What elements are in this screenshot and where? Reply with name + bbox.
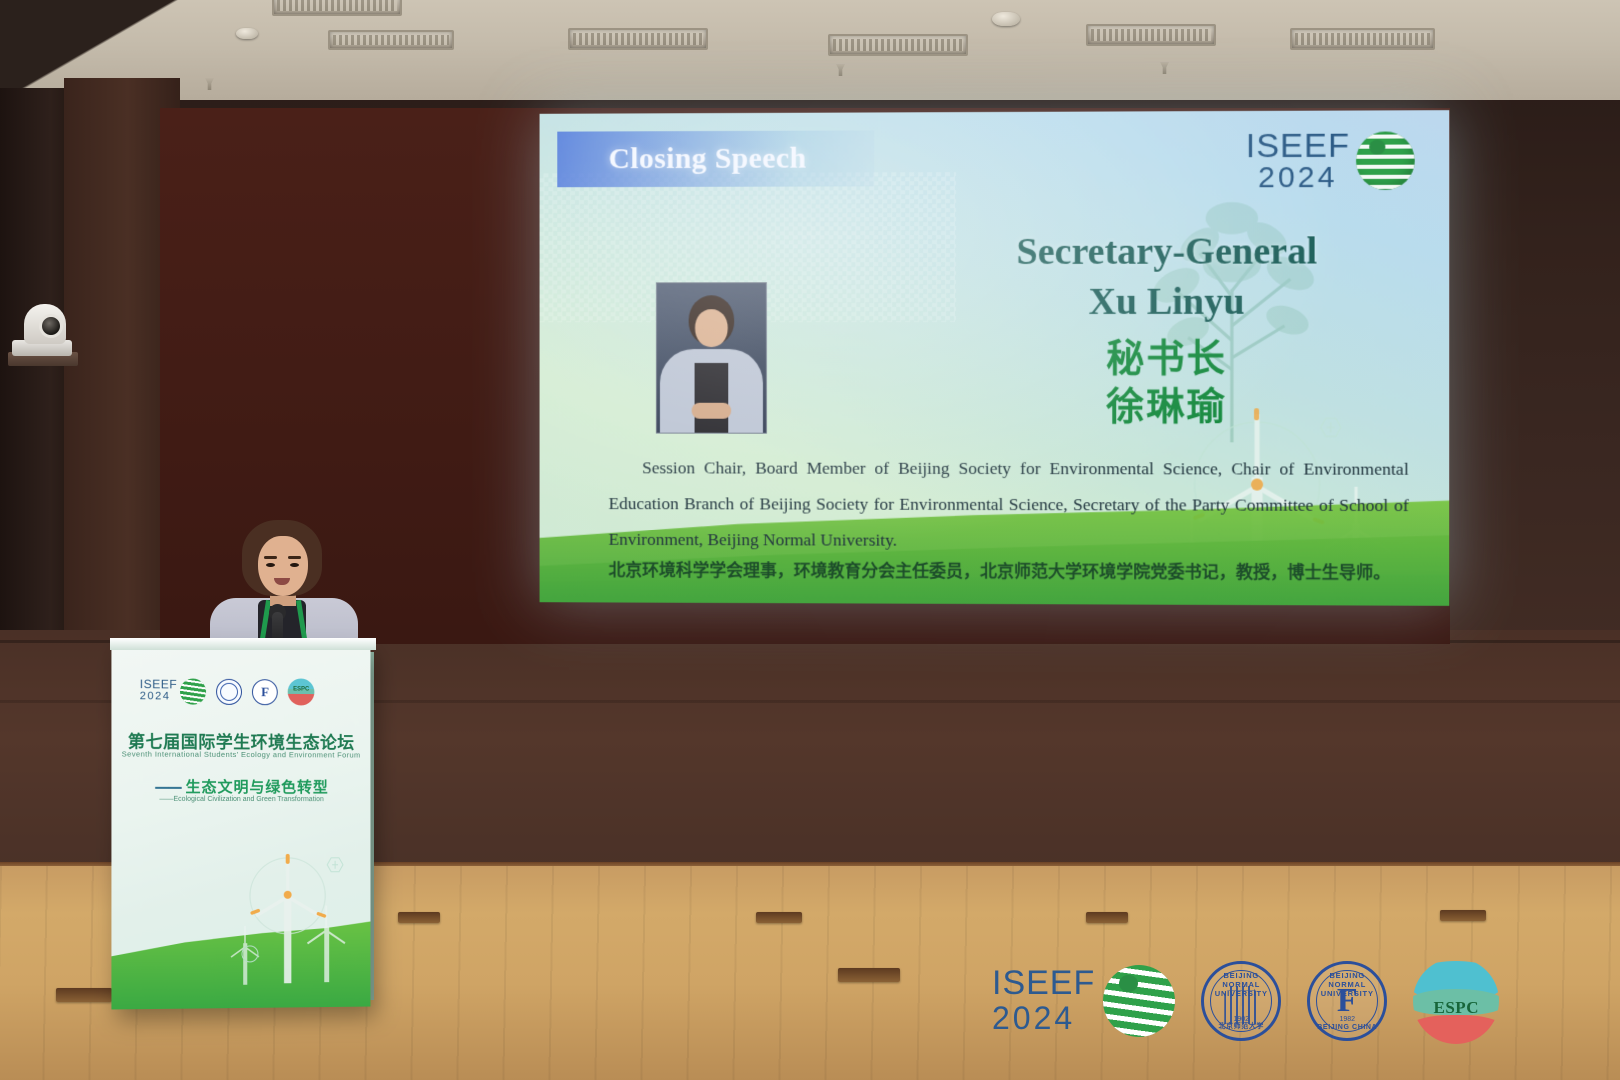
podium-title-en: Seventh International Students' Ecology … (111, 749, 370, 759)
air-vent-icon (828, 34, 968, 56)
slide-heading-role-cn: 秘书长 (916, 327, 1419, 382)
slide-bio-en: Session Chair, Board Member of Beijing S… (609, 449, 1409, 559)
bnu-seal-bottom-text: 北京师范大学 (1204, 1021, 1278, 1031)
slide-bio-cn-text: 北京环境科学学会理事，环境教育分会主任委员，北京师范大学环境学院党委书记，教授，… (609, 561, 1391, 584)
watermark-logo-row: ISEEF 2024 BEIJING NORMAL UNIVERSITY 190… (992, 958, 1499, 1044)
podium-logo-row: ISEEF 2024 F (140, 677, 315, 705)
podium-subtitle-cn: ——生态文明与绿色转型 (111, 776, 370, 798)
slide-title-banner: Closing Speech (557, 130, 874, 187)
iseef-globe-icon (1103, 965, 1175, 1037)
bnu-f-emblem-icon: BEIJING NORMAL UNIVERSITY F 1982 BEIJING… (1307, 961, 1387, 1041)
bnu-seal-icon: BEIJING NORMAL UNIVERSITY 1902 北京师范大学 (1201, 961, 1281, 1041)
espc-label: ESPC (1413, 998, 1499, 1018)
slide-logo-year: 2024 (1246, 163, 1350, 193)
podium-subtitle-en: ——Ecological Civilization and Green Tran… (111, 796, 370, 803)
slide-bio-en-text: Session Chair, Board Member of Beijing S… (609, 457, 1409, 549)
espc-logo-icon: ESPC (1413, 958, 1499, 1044)
espc-logo-icon (288, 678, 315, 705)
floor-outlet-plate (398, 912, 440, 923)
bnu-seal-icon (216, 678, 242, 704)
slide-heading-name-en: Xu Linyu (916, 279, 1419, 324)
bnu-f-bottom-text: BEIJING CHINA (1310, 1024, 1384, 1031)
podium-logo-name: ISEEF (140, 678, 177, 690)
podium-subtitle-dash: —— (154, 778, 180, 796)
stage-scene-photo: Closing Speech ISEEF 2024 Secretary-Gene… (0, 0, 1620, 1080)
air-vent-icon (272, 0, 402, 16)
floor-outlet-plate (1440, 910, 1486, 921)
speaker-face (258, 536, 308, 596)
watermark-iseef-name: ISEEF (992, 966, 1095, 1000)
floor-outlet-plate (838, 968, 900, 982)
podium-wind-turbine-graphic (230, 836, 359, 986)
floor-outlet-plate (756, 912, 802, 923)
camera-lens-icon (39, 314, 63, 338)
air-vent-icon (1290, 28, 1435, 50)
smoke-detector-icon (236, 28, 258, 39)
floor-outlet-plate (1086, 912, 1128, 923)
air-vent-icon (568, 28, 708, 50)
podium-logo-year: 2024 (140, 690, 177, 704)
slide-heading-name-cn: 徐琳瑜 (916, 375, 1419, 431)
speaker-portrait-photo (656, 282, 767, 433)
slide-heading-role-en: Secretary-General (916, 229, 1419, 274)
wall-left-panel (0, 88, 72, 688)
air-vent-icon (1086, 24, 1216, 46)
slide-logo-name: ISEEF (1246, 129, 1350, 164)
floor-outlet-plate (56, 988, 112, 1002)
bnu-f-emblem-icon: F (252, 679, 278, 705)
podium-top-surface (110, 638, 376, 650)
bnu-f-year: 1982 (1310, 1016, 1384, 1023)
projected-slide: Closing Speech ISEEF 2024 Secretary-Gene… (540, 110, 1450, 606)
air-vent-icon (328, 30, 454, 50)
iseef-globe-icon (180, 678, 206, 704)
podium-front-panel: ISEEF 2024 F 第七届国际学生环境生态论坛 Seventh Inter… (111, 643, 370, 1010)
watermark-iseef-logo: ISEEF 2024 (992, 965, 1175, 1037)
podium-subtitle-cn-text: 生态文明与绿色转型 (186, 778, 329, 796)
slide-iseef-logo: ISEEF 2024 (1246, 128, 1415, 193)
bnu-f-letter: F (1310, 982, 1384, 1020)
podium-iseef-logo: ISEEF 2024 (140, 678, 207, 705)
slide-bio-cn: 北京环境科学学会理事，环境教育分会主任委员，北京师范大学环境学院党委书记，教授，… (609, 554, 1429, 591)
smoke-detector-icon (992, 12, 1020, 26)
watermark-iseef-year: 2024 (992, 1000, 1095, 1037)
slide-title: Closing Speech (609, 142, 807, 176)
iseef-globe-icon (1356, 131, 1415, 190)
